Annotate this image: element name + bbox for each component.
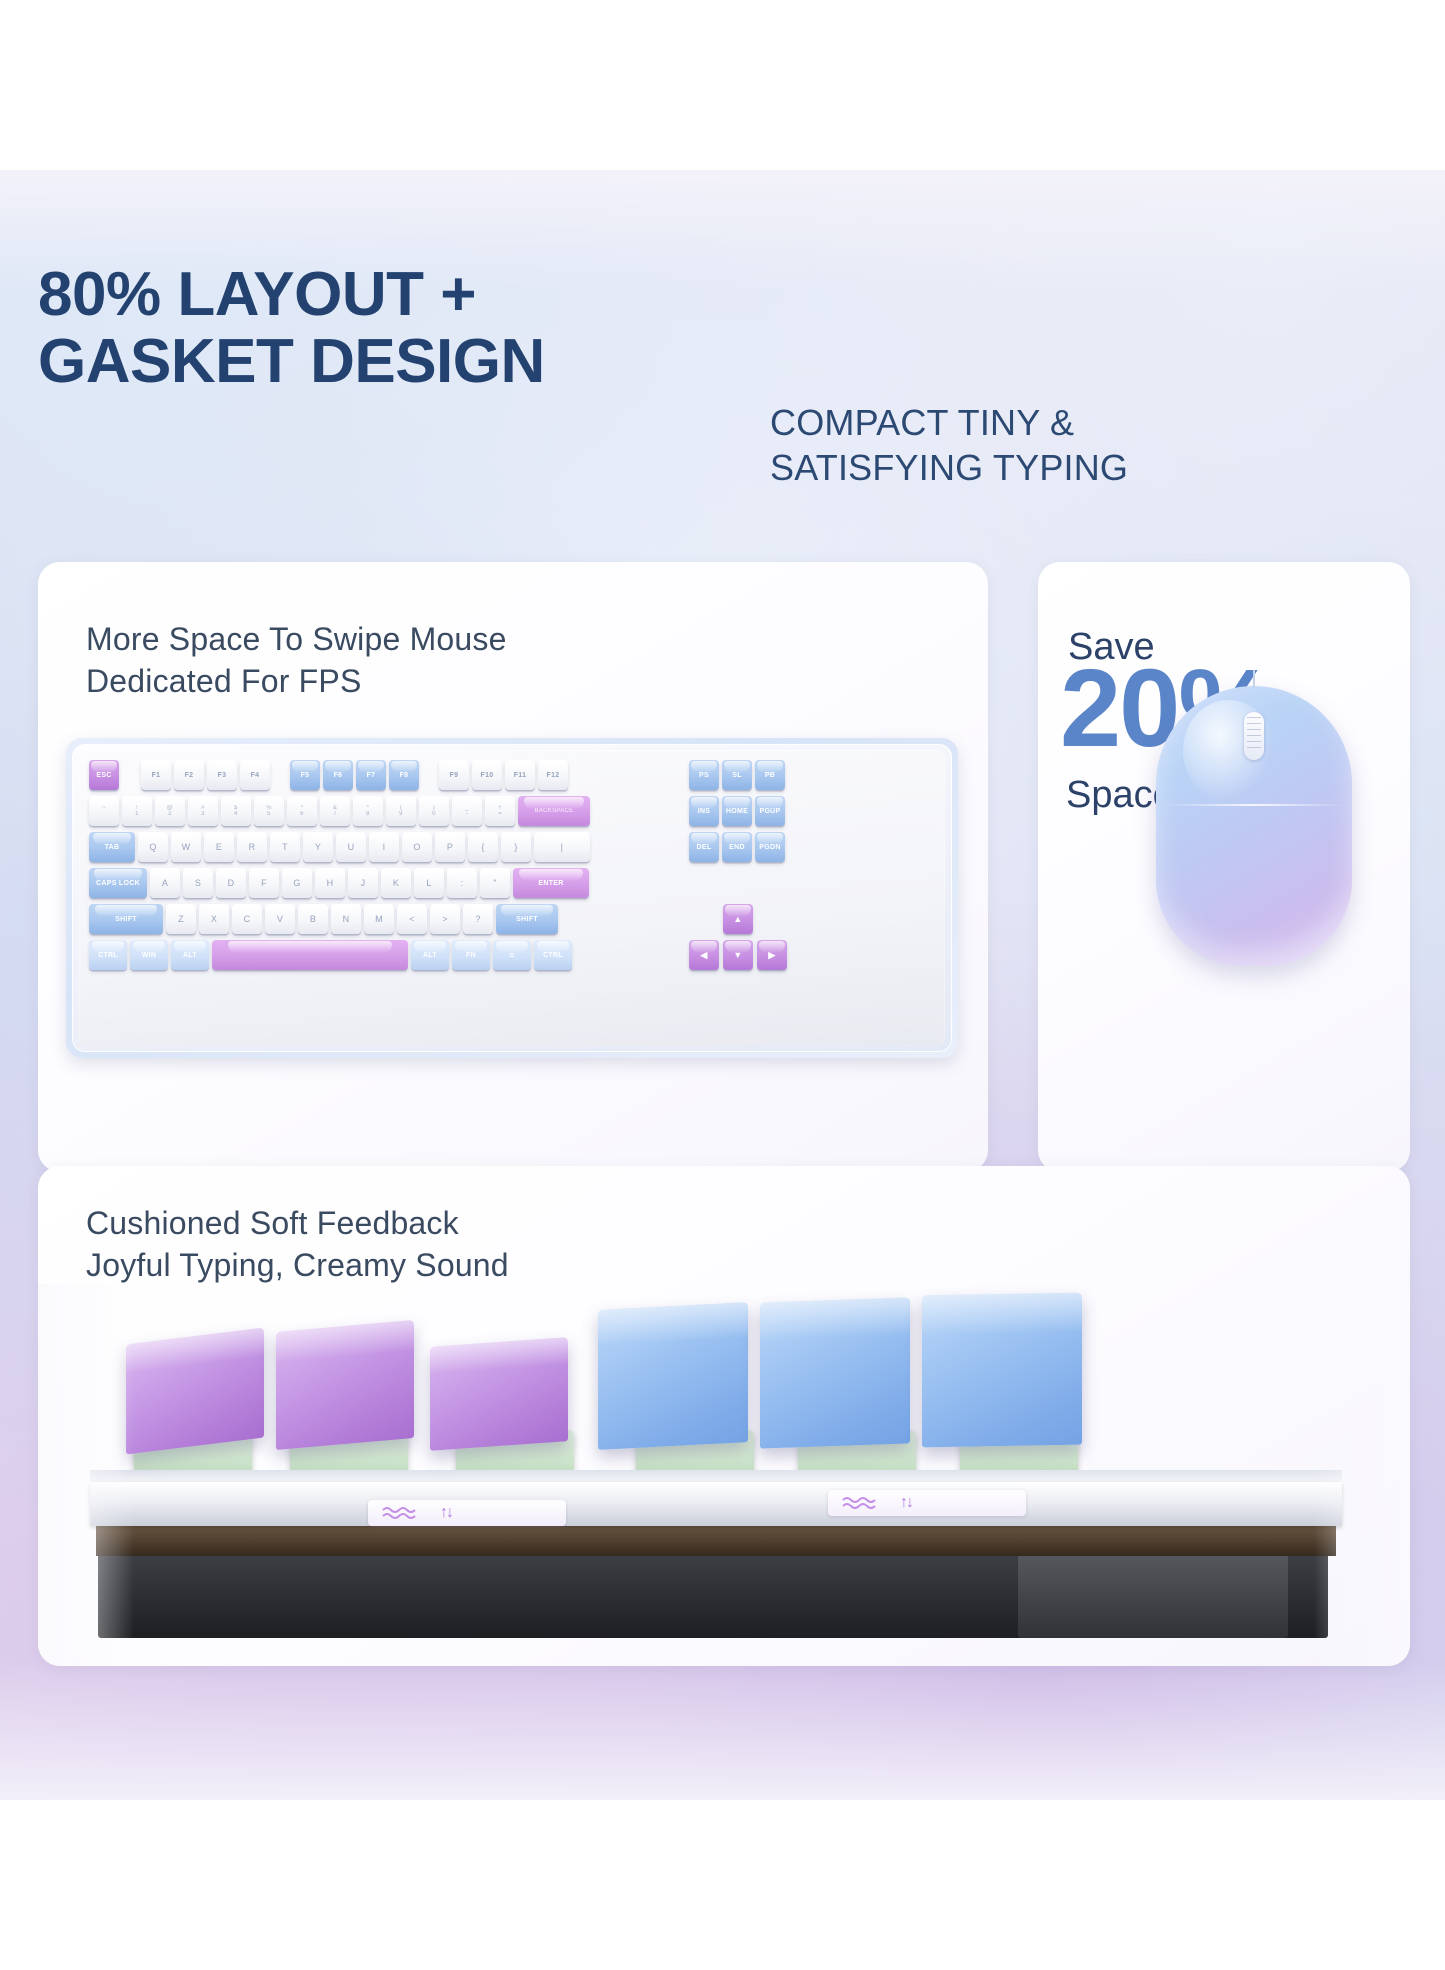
- caps-key-9[interactable]: L: [414, 868, 444, 898]
- caps-key-5[interactable]: G: [282, 868, 312, 898]
- num-key-1[interactable]: !1: [122, 796, 152, 826]
- fn-key-7[interactable]: F5: [290, 760, 320, 790]
- fn-key-9[interactable]: F7: [356, 760, 386, 790]
- nav1-key-1[interactable]: SL: [722, 760, 752, 790]
- tab-key-9[interactable]: O: [402, 832, 432, 862]
- fn-key-11: [422, 760, 436, 790]
- key-legend-bottom: 5: [267, 811, 271, 817]
- shift-key-4[interactable]: V: [265, 904, 295, 934]
- tab-key-6[interactable]: Y: [303, 832, 333, 862]
- bottom-key-3[interactable]: [212, 940, 408, 970]
- keycap-top-face-4: [760, 1297, 910, 1340]
- num-key-8[interactable]: *8: [353, 796, 383, 826]
- caps-key-8[interactable]: K: [381, 868, 411, 898]
- keycap-top-face-1: [276, 1320, 414, 1363]
- gasket-feature-card: Cushioned Soft Feedback Joyful Typing, C…: [38, 1166, 1410, 1666]
- key-legend-bottom: 1: [135, 811, 139, 817]
- shift-key-3[interactable]: C: [232, 904, 262, 934]
- shift-key-0[interactable]: SHIFT: [89, 904, 163, 934]
- keyboard-card-title-line-1: More Space To Swipe Mouse: [86, 618, 786, 660]
- caps-key-11[interactable]: ": [480, 868, 510, 898]
- subtitle-line-2: SATISFYING TYPING: [770, 445, 1290, 490]
- key-legend-bottom: 0: [432, 811, 436, 817]
- space-saving-card: Save 20% Space: [1038, 562, 1410, 1172]
- caps-key-0[interactable]: CAPS LOCK: [89, 868, 147, 898]
- keyboard-feature-card: More Space To Swipe Mouse Dedicated For …: [38, 562, 988, 1172]
- fn-key-6: [273, 760, 287, 790]
- num-key-2[interactable]: @2: [155, 796, 185, 826]
- mouse-illustration: [1156, 686, 1352, 966]
- gasket-cushion-indicator-0: ↑↓: [368, 1500, 566, 1526]
- nav2-key-1[interactable]: HOME: [722, 796, 752, 826]
- keyboard-bottom-row: CTRLWINALTALTFN≡CTRL: [89, 940, 572, 970]
- fn-key-13[interactable]: F10: [472, 760, 502, 790]
- tab-key-7[interactable]: U: [336, 832, 366, 862]
- caps-key-6[interactable]: H: [315, 868, 345, 898]
- key-legend-bottom: 6: [300, 811, 304, 817]
- arrow-down-key[interactable]: ▼: [723, 940, 753, 970]
- headline-line-2: GASKET DESIGN: [38, 329, 758, 396]
- shift-key-11[interactable]: SHIFT: [496, 904, 558, 934]
- up-down-arrow-icon: ↑↓: [440, 1504, 452, 1522]
- keyboard-number-row: ~`!1@2#3$4%5^6&7*8(9)0_-+=BACKSPACE: [89, 796, 590, 826]
- key-legend-bottom: 2: [168, 811, 172, 817]
- shift-key-5[interactable]: B: [298, 904, 328, 934]
- shift-key-7[interactable]: M: [364, 904, 394, 934]
- tab-key-12[interactable]: }: [501, 832, 531, 862]
- arrow-left-key[interactable]: ◀: [689, 940, 719, 970]
- tab-key-1[interactable]: Q: [138, 832, 168, 862]
- fn-key-10[interactable]: F8: [389, 760, 419, 790]
- caps-key-4[interactable]: F: [249, 868, 279, 898]
- fn-key-12[interactable]: F9: [439, 760, 469, 790]
- num-key-3[interactable]: #3: [188, 796, 218, 826]
- shift-key-8[interactable]: <: [397, 904, 427, 934]
- keyboard-nav-row-2: INSHOMEPGUP: [689, 796, 785, 826]
- tab-key-11[interactable]: {: [468, 832, 498, 862]
- key-legend-top: BACKSPACE: [535, 808, 574, 814]
- mouse-scroll-wheel: [1244, 712, 1264, 760]
- mouse-cord: [1253, 670, 1255, 688]
- keycap-3: [598, 1302, 748, 1450]
- key-legend-bottom: -: [466, 811, 468, 817]
- pcb-layer: [96, 1522, 1336, 1556]
- key-legend-bottom: `: [103, 811, 105, 817]
- num-key-9[interactable]: (9: [386, 796, 416, 826]
- caps-key-1[interactable]: A: [150, 868, 180, 898]
- tab-key-4[interactable]: R: [237, 832, 267, 862]
- tab-key-13[interactable]: |: [534, 832, 590, 862]
- background-bottom-fade: [0, 1660, 1445, 1800]
- num-key-13[interactable]: BACKSPACE: [518, 796, 590, 826]
- keyboard-nav-row-1: PSSLPB: [689, 760, 785, 790]
- shift-key-9[interactable]: >: [430, 904, 460, 934]
- shift-key-2[interactable]: X: [199, 904, 229, 934]
- fn-key-0[interactable]: ESC: [89, 760, 119, 790]
- nav3-key-2[interactable]: PGDN: [755, 832, 785, 862]
- keycap-top-face-0: [126, 1328, 264, 1374]
- up-down-arrow-icon: ↑↓: [900, 1494, 912, 1512]
- keyboard-illustration: ESCF1F2F3F4F5F6F7F8F9F10F11F12 ~`!1@2#3$…: [66, 738, 958, 1058]
- fn-key-8[interactable]: F6: [323, 760, 353, 790]
- num-key-12[interactable]: +=: [485, 796, 515, 826]
- nav3-key-1[interactable]: END: [722, 832, 752, 862]
- key-legend-bottom: 4: [234, 811, 238, 817]
- gasket-card-title-line-2: Joyful Typing, Creamy Sound: [86, 1244, 846, 1286]
- keyboard-card-title-line-2: Dedicated For FPS: [86, 660, 786, 702]
- fn-key-14[interactable]: F11: [505, 760, 535, 790]
- num-key-0[interactable]: ~`: [89, 796, 119, 826]
- bottom-key-1[interactable]: WIN: [130, 940, 168, 970]
- bottom-key-0[interactable]: CTRL: [89, 940, 127, 970]
- key-legend-bottom: 7: [333, 811, 337, 817]
- caps-key-7[interactable]: J: [348, 868, 378, 898]
- keycap-2: [430, 1337, 568, 1451]
- shift-key-10[interactable]: ?: [463, 904, 493, 934]
- fn-key-4[interactable]: F3: [207, 760, 237, 790]
- keycap-0: [126, 1328, 264, 1455]
- fn-key-5[interactable]: F4: [240, 760, 270, 790]
- keycap-1: [276, 1320, 414, 1450]
- keycap-5: [922, 1293, 1082, 1448]
- keyboard-function-row: ESCF1F2F3F4F5F6F7F8F9F10F11F12: [89, 760, 568, 790]
- tab-key-8[interactable]: I: [369, 832, 399, 862]
- bottom-key-4[interactable]: ALT: [411, 940, 449, 970]
- tab-key-3[interactable]: E: [204, 832, 234, 862]
- shift-key-6[interactable]: N: [331, 904, 361, 934]
- keycap-top-face-2: [430, 1337, 568, 1374]
- nav1-key-2[interactable]: PB: [755, 760, 785, 790]
- arrow-right-key[interactable]: ▶: [757, 940, 787, 970]
- key-legend-bottom: 8: [366, 811, 370, 817]
- gasket-card-title-line-1: Cushioned Soft Feedback: [86, 1202, 846, 1244]
- keyboard-nav-row-3: DELENDPGDN: [689, 832, 785, 862]
- wave-icon: [842, 1495, 886, 1511]
- keycap-4: [760, 1297, 910, 1448]
- keycap-top-face-5: [922, 1293, 1082, 1335]
- fn-key-15[interactable]: F12: [538, 760, 568, 790]
- nav1-key-0[interactable]: PS: [689, 760, 719, 790]
- bottom-key-7[interactable]: CTRL: [534, 940, 572, 970]
- wave-icon: [382, 1505, 426, 1521]
- tab-key-5[interactable]: T: [270, 832, 300, 862]
- num-key-7[interactable]: &7: [320, 796, 350, 826]
- key-legend-bottom: 3: [201, 811, 205, 817]
- nav2-key-2[interactable]: PGUP: [755, 796, 785, 826]
- page-title: 80% LAYOUT + GASKET DESIGN: [38, 262, 758, 396]
- fn-key-1: [122, 760, 138, 790]
- nav3-key-0[interactable]: DEL: [689, 832, 719, 862]
- keyboard-tab-row: TABQWERTYUIOP{}|: [89, 832, 590, 862]
- headline-line-1: 80% LAYOUT +: [38, 260, 476, 329]
- mounting-plate: [90, 1482, 1342, 1526]
- caps-key-2[interactable]: S: [183, 868, 213, 898]
- page-subtitle: COMPACT TINY & SATISFYING TYPING: [770, 400, 1290, 490]
- arrow-up-key[interactable]: ▲: [723, 904, 753, 934]
- gasket-cross-section-illustration: ↑↓↑↓: [38, 1284, 1410, 1666]
- caps-key-12[interactable]: ENTER: [513, 868, 589, 898]
- keycap-top-face-3: [598, 1302, 748, 1346]
- bottom-key-5[interactable]: FN: [452, 940, 490, 970]
- keyboard-shift-row: SHIFTZXCVBNM<>?SHIFT: [89, 904, 558, 934]
- nav2-key-0[interactable]: INS: [689, 796, 719, 826]
- tab-key-2[interactable]: W: [171, 832, 201, 862]
- mouse-button-divider: [1164, 804, 1344, 806]
- gasket-cushion-indicator-1: ↑↓: [828, 1490, 1026, 1516]
- num-key-6[interactable]: ^6: [287, 796, 317, 826]
- key-legend-bottom: =: [498, 811, 502, 817]
- keyboard-card-title: More Space To Swipe Mouse Dedicated For …: [86, 618, 786, 702]
- subtitle-line-1: COMPACT TINY &: [770, 400, 1290, 445]
- key-legend-bottom: 9: [399, 811, 403, 817]
- fn-key-3[interactable]: F2: [174, 760, 204, 790]
- infographic-page: 80% LAYOUT + GASKET DESIGN COMPACT TINY …: [0, 0, 1445, 1970]
- keyboard-case-bottom-right: [1018, 1552, 1288, 1638]
- tab-key-0[interactable]: TAB: [89, 832, 135, 862]
- shift-key-1[interactable]: Z: [166, 904, 196, 934]
- caps-key-10[interactable]: :: [447, 868, 477, 898]
- caps-key-3[interactable]: D: [216, 868, 246, 898]
- keyboard-plate: ESCF1F2F3F4F5F6F7F8F9F10F11F12 ~`!1@2#3$…: [79, 750, 945, 1046]
- num-key-11[interactable]: _-: [452, 796, 482, 826]
- bottom-key-2[interactable]: ALT: [171, 940, 209, 970]
- tab-key-10[interactable]: P: [435, 832, 465, 862]
- gasket-card-title: Cushioned Soft Feedback Joyful Typing, C…: [86, 1202, 846, 1286]
- bottom-key-6[interactable]: ≡: [493, 940, 531, 970]
- num-key-10[interactable]: )0: [419, 796, 449, 826]
- num-key-4[interactable]: $4: [221, 796, 251, 826]
- keyboard-caps-row: CAPS LOCKASDFGHJKL:"ENTER: [89, 868, 589, 898]
- num-key-5[interactable]: %5: [254, 796, 284, 826]
- fn-key-2[interactable]: F1: [141, 760, 171, 790]
